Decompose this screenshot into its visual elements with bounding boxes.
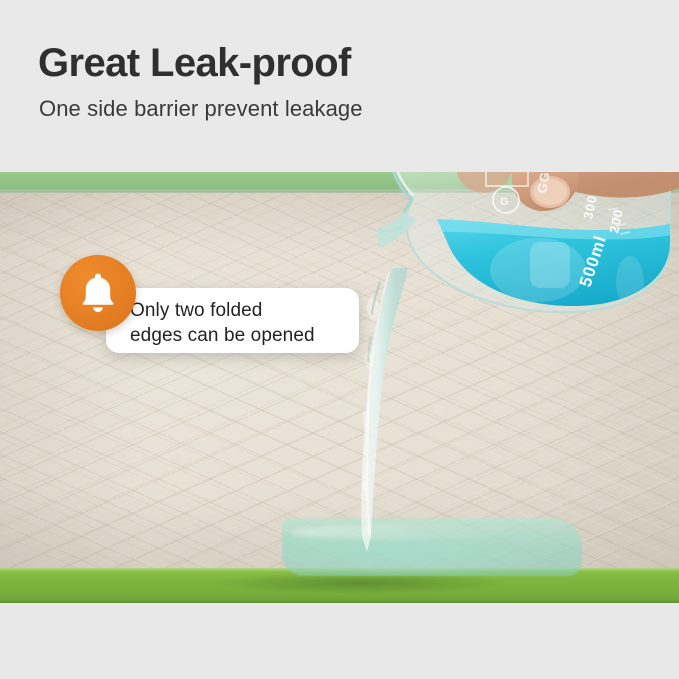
page-subtitle: One side barrier prevent leakage bbox=[39, 96, 363, 122]
callout-text: Only two folded edges can be opened bbox=[130, 299, 360, 348]
callout-text-line-1: Only two folded bbox=[130, 299, 360, 324]
callout-badge bbox=[60, 255, 136, 331]
svg-text:G: G bbox=[500, 196, 509, 208]
callout-text-line-2: edges can be opened bbox=[130, 324, 360, 349]
page-title: Great Leak-proof bbox=[38, 42, 351, 84]
header-band: Great Leak-proof One side barrier preven… bbox=[0, 0, 679, 172]
bell-icon bbox=[79, 271, 117, 315]
promo-image-scene: 500 APPROX GG-17 G 300 200 500ml bbox=[0, 0, 679, 679]
callout: Only two folded edges can be opened bbox=[60, 255, 360, 355]
